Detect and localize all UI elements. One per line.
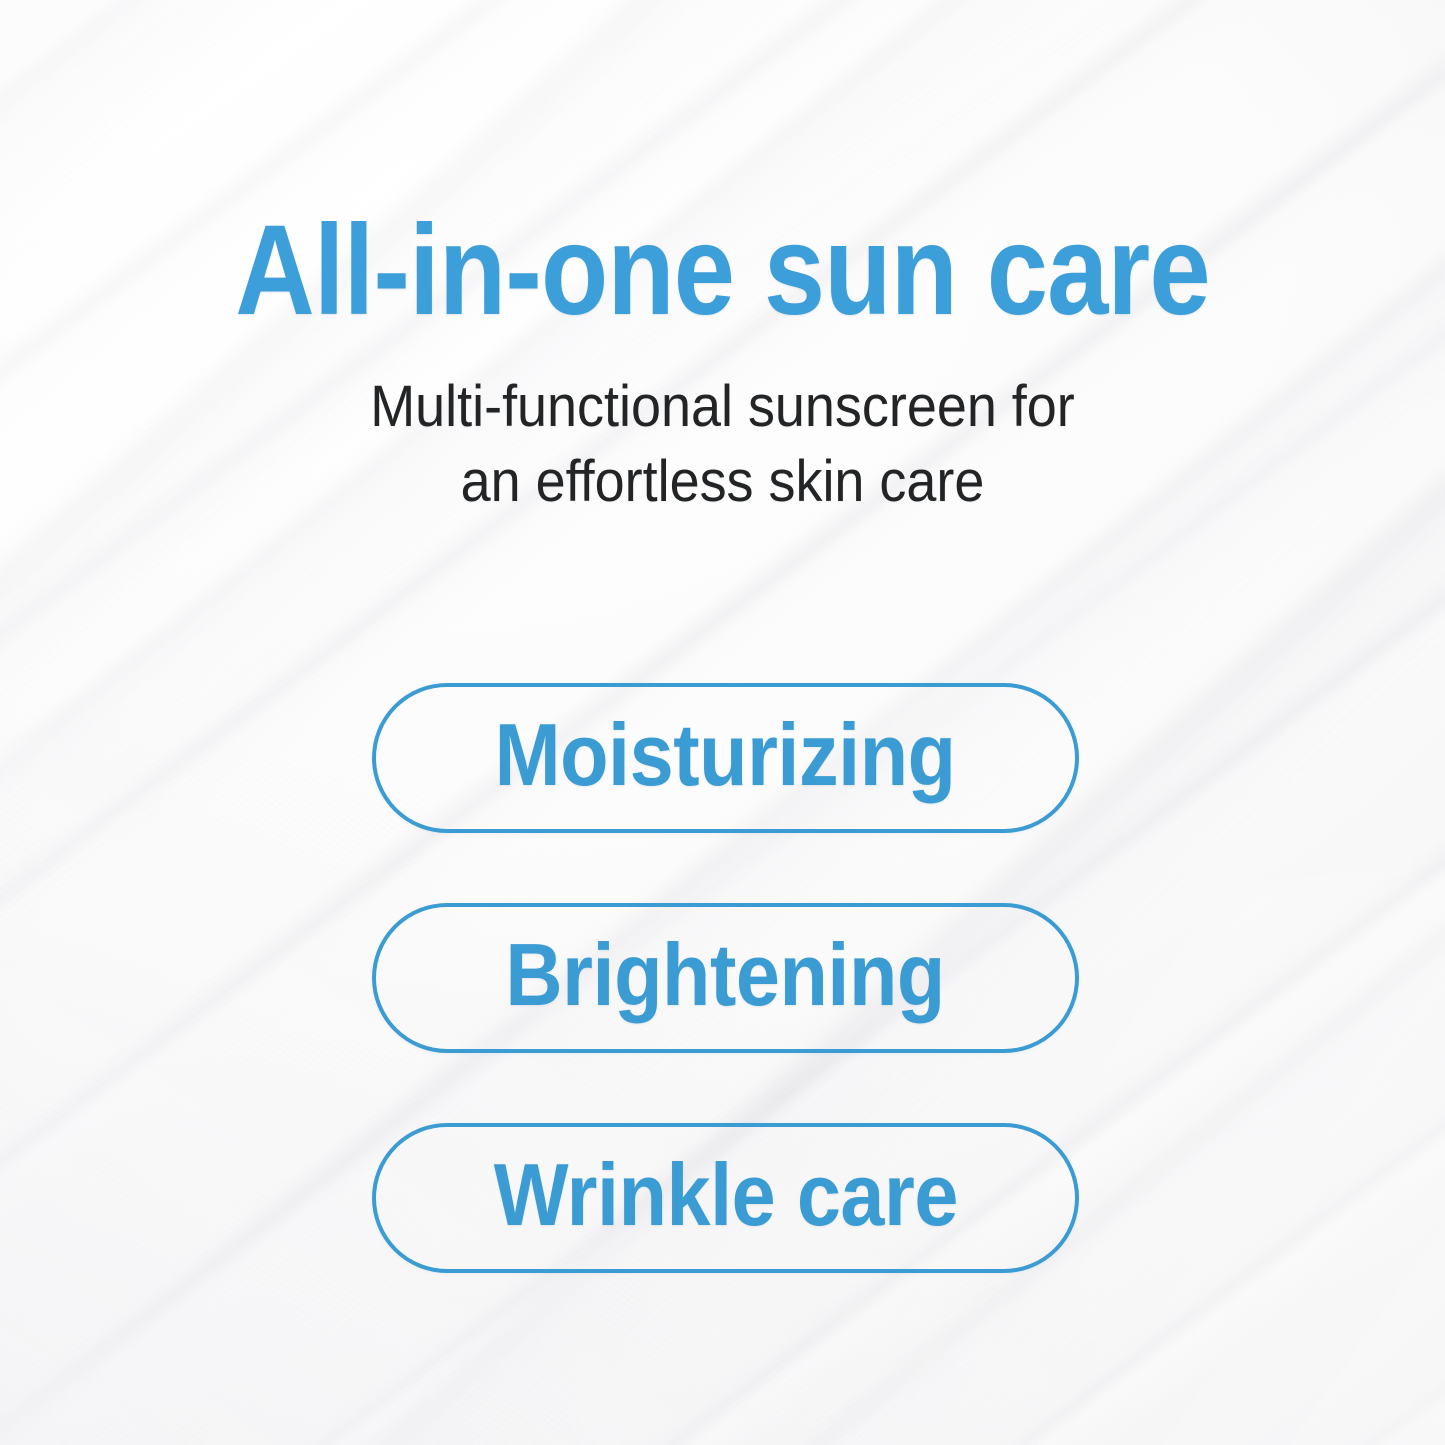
benefit-pill-brightening[interactable]: Brightening [372, 903, 1079, 1053]
benefit-pill-moisturizing[interactable]: Moisturizing [372, 683, 1079, 833]
page-title: All-in-one sun care [101, 207, 1344, 335]
benefit-pill-wrinkle-care[interactable]: Wrinkle care [372, 1123, 1079, 1273]
benefit-pill-label: Wrinkle care [493, 1151, 957, 1245]
product-infographic: All-in-one sun care Multi-functional sun… [0, 0, 1445, 1445]
subtitle-line-1: Multi-functional sunscreen for [51, 369, 1395, 444]
benefit-pill-list: Moisturizing Brightening Wrinkle care [372, 683, 1079, 1273]
content-layer: All-in-one sun care Multi-functional sun… [0, 0, 1445, 1445]
benefit-pill-label: Moisturizing [495, 711, 956, 805]
benefit-pill-label: Brightening [506, 931, 945, 1025]
page-subtitle: Multi-functional sunscreen for an effort… [51, 369, 1395, 520]
subtitle-line-2: an effortless skin care [51, 444, 1395, 519]
